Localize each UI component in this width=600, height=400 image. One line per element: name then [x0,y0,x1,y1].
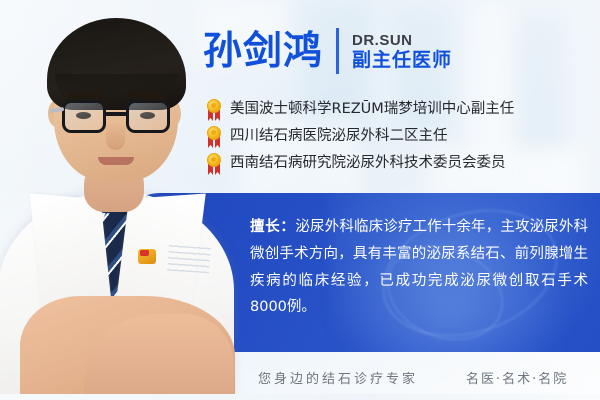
medal-icon [206,99,222,121]
medal-icon [206,153,222,175]
doctor-job-title: 副主任医师 [352,51,452,70]
credential-item: 四川结石病医院泌尿外科二区主任 [206,126,514,148]
credentials-list: 美国波士顿科学REZŪM瑞梦培训中心副主任 四川结石病医院泌尿外科二区主任 西南… [206,99,514,175]
specialty-paragraph: 擅长：泌尿外科临床诊疗工作十余年，主攻泌尿外科微创手术方向，具有丰富的泌尿系结石… [250,214,588,321]
footer-bar [0,394,600,400]
eyeglasses-lens-right [126,100,170,133]
specialty-block: 擅长：泌尿外科临床诊疗工作十余年，主攻泌尿外科微创手术方向，具有丰富的泌尿系结石… [250,214,588,321]
footer-slogan: 您身边的结石诊疗专家 [258,368,418,387]
doctor-name: 孙剑鸿 [203,32,323,71]
credential-text: 美国波士顿科学REZŪM瑞梦培训中心副主任 [230,100,514,120]
specialty-label: 擅长： [250,219,295,235]
credential-text: 四川结石病医院泌尿外科二区主任 [230,127,448,147]
doctor-name-block: 孙剑鸿 DR.SUN 副主任医师 [203,28,452,74]
credential-text: 西南结石病研究院泌尿外科技术委员会委员 [230,154,506,174]
doctor-name-english: DR.SUN [352,33,452,48]
doctor-profile-card: 孙剑鸿 DR.SUN 副主任医师 美国波士顿科学REZŪM瑞梦培训中心副主任 四… [0,0,600,400]
medal-icon [206,126,222,148]
eyeglasses-lens-left [62,100,106,133]
doctor-title-block: DR.SUN 副主任医师 [352,33,452,70]
name-divider [336,28,339,74]
footer-tagline: 名医·名术·名院 [466,368,568,387]
credential-item: 美国波士顿科学REZŪM瑞梦培训中心副主任 [206,99,514,121]
lapel-badge-icon [138,249,156,264]
mouth [98,157,134,165]
specialty-text: 泌尿外科临床诊疗工作十余年，主攻泌尿外科微创手术方向，具有丰富的泌尿系结石、前列… [250,219,588,315]
nose [106,122,125,150]
footer: 您身边的结石诊疗专家 名医·名术·名院 [0,360,600,394]
coat-pocket-embroidery [167,245,211,274]
eyeglasses-bridge [105,112,127,116]
credential-item: 西南结石病研究院泌尿外科技术委员会委员 [206,153,514,175]
